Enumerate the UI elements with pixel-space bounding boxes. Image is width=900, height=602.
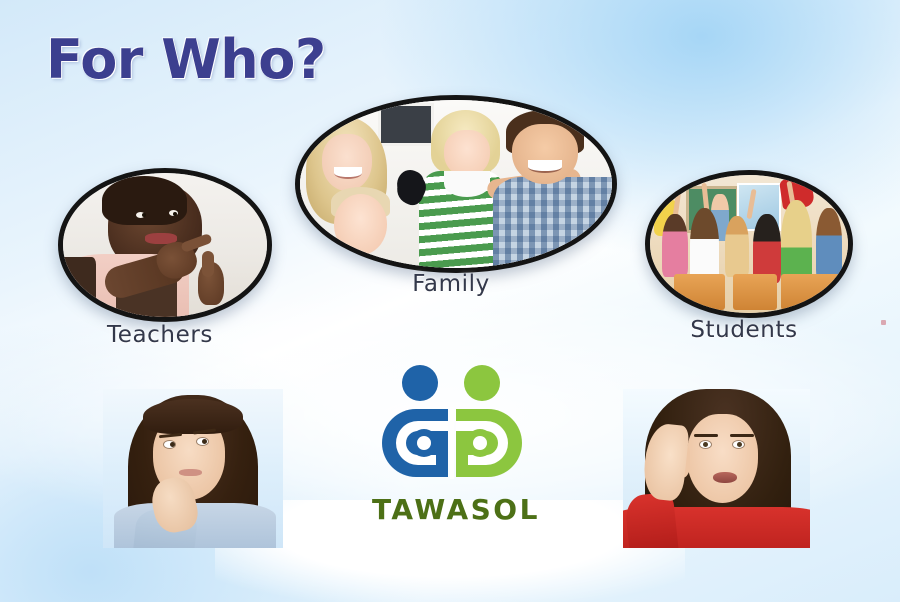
- audience-card-teachers[interactable]: [58, 168, 262, 312]
- tawasol-wordmark: TAWASOL: [372, 493, 532, 526]
- audience-label-students: Students: [645, 317, 843, 343]
- slide-canvas: For Who? Teachers: [0, 0, 900, 602]
- listening-woman-photo: [623, 389, 810, 548]
- teachers-oval-frame: [58, 168, 272, 322]
- audience-label-family: Family: [295, 271, 607, 297]
- dot-artifact-icon: [881, 320, 886, 325]
- page-title: For Who?: [46, 28, 326, 91]
- thinking-woman-photo: [103, 389, 283, 548]
- classroom-image: [650, 175, 848, 313]
- family-photo-image: [300, 100, 612, 268]
- family-oval-frame: [295, 95, 617, 273]
- students-oval-frame: [645, 170, 853, 318]
- audience-label-teachers: Teachers: [58, 322, 262, 348]
- audience-card-family[interactable]: [295, 95, 607, 263]
- audience-card-students[interactable]: [645, 170, 843, 308]
- teacher-signing-image: [63, 173, 267, 317]
